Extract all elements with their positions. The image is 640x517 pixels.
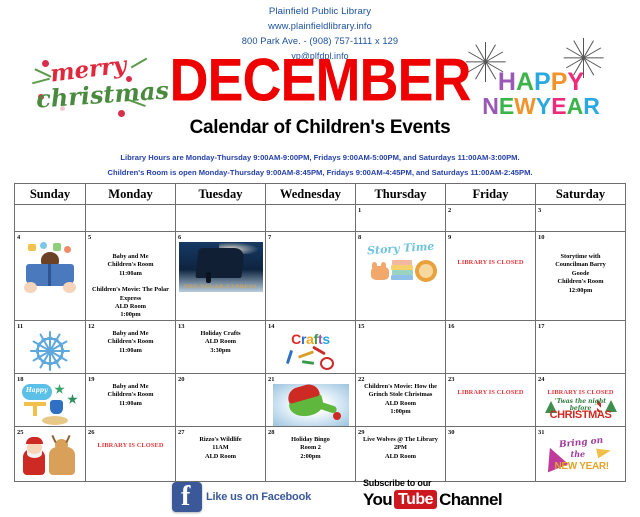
event-block: Baby and MeChildren's Room11:00am <box>86 330 175 355</box>
youtube-tube-icon: Tube <box>394 490 437 509</box>
event-line: Baby and Me <box>89 383 172 391</box>
hours-block: Library Hours are Monday-Thursday 9:00AM… <box>0 150 640 180</box>
calendar-day-cell-31[interactable]: 31Bring ontheNEW YEAR! <box>536 426 626 481</box>
day-number: 31 <box>536 427 625 436</box>
day-number: 21 <box>266 374 355 383</box>
event-block: Holiday CraftsALD Room3:30pm <box>176 330 265 355</box>
event-block-2: Children's Movie: The Polar ExpressALD R… <box>86 286 175 320</box>
day-number: 27 <box>176 427 265 436</box>
day-number: 19 <box>86 374 175 383</box>
day-number: 11 <box>15 321 85 330</box>
calendar-day-cell-2[interactable]: 2 <box>446 205 536 232</box>
page-footer: Like us on Facebook Subscribe to our You… <box>0 484 640 517</box>
weekday-header-row: SundayMondayTuesdayWednesdayThursdayFrid… <box>15 184 626 205</box>
library-website[interactable]: www.plainfieldlibrary.info <box>0 19 640 34</box>
event-line: Holiday Crafts <box>179 330 262 338</box>
day-number: 1 <box>356 205 445 214</box>
hanukkah-icon: Happy <box>20 384 80 426</box>
polar-express-poster-icon: THE POLAR EXPRESS <box>179 242 263 292</box>
crafts-icon: Crafts <box>280 331 342 371</box>
calendar-subtitle: Calendar of Children's Events <box>0 118 640 137</box>
crafts-caption: Crafts <box>280 331 342 347</box>
day-number: 20 <box>176 374 265 383</box>
event-line: ALD Room <box>359 453 442 461</box>
calendar-day-cell-12[interactable]: 12Baby and MeChildren's Room11:00am <box>86 320 176 373</box>
calendar-day-cell-21[interactable]: 21 <box>266 373 356 426</box>
facebook-label: Like us on Facebook <box>206 491 311 503</box>
day-number: 15 <box>356 321 445 330</box>
calendar-day-cell-22[interactable]: 22Children's Movie: How theGrinch Stole … <box>356 373 446 426</box>
calendar-day-cell-20[interactable]: 20 <box>176 373 266 426</box>
calendar-grid: SundayMondayTuesdayWednesdayThursdayFrid… <box>14 183 626 482</box>
event-line: Goode <box>539 270 622 278</box>
calendar-week-row: 123 <box>15 205 626 232</box>
event-line: Children's Movie: How the <box>359 383 442 391</box>
calendar-day-cell-1[interactable]: 1 <box>356 205 446 232</box>
calendar-day-cell-9[interactable]: 9LIBRARY IS CLOSED <box>446 232 536 321</box>
event-line: ALD Room <box>89 303 172 311</box>
event-line: ALD Room <box>179 338 262 346</box>
calendar-day-cell-empty[interactable] <box>176 205 266 232</box>
event-line: Holiday Bingo <box>269 436 352 444</box>
event-line: Baby and Me <box>89 253 172 261</box>
day-number: 30 <box>446 427 535 436</box>
weekday-header-thursday: Thursday <box>356 184 446 205</box>
library-name: Plainfield Public Library <box>0 4 640 19</box>
day-number: 28 <box>266 427 355 436</box>
event-block: Storytime withCouncilman BarryGoodeChild… <box>536 253 625 295</box>
library-closed-notice: LIBRARY IS CLOSED <box>446 259 535 266</box>
event-line: ALD Room <box>359 400 442 408</box>
calendar-day-cell-empty[interactable] <box>86 205 176 232</box>
ny-line2: the <box>571 449 586 459</box>
library-hours-line: Library Hours are Monday-Thursday 9:00AM… <box>0 150 640 165</box>
calendar-day-cell-7[interactable]: 7 <box>266 232 356 321</box>
weekday-header-wednesday: Wednesday <box>266 184 356 205</box>
calendar-day-cell-25[interactable]: 25 <box>15 426 86 481</box>
story-time-icon: Story Time <box>361 242 441 286</box>
weekday-header-saturday: Saturday <box>536 184 626 205</box>
calendar-week-row: 45Baby and MeChildren's Room11:00amChild… <box>15 232 626 321</box>
ny-line3: NEW YEAR! <box>555 461 609 472</box>
day-number: 3 <box>536 205 625 214</box>
weekday-header-monday: Monday <box>86 184 176 205</box>
calendar-day-cell-18[interactable]: 18Happy <box>15 373 86 426</box>
grinch-icon <box>273 384 349 426</box>
calendar-day-cell-empty[interactable] <box>266 205 356 232</box>
calendar-day-cell-10[interactable]: 10Storytime withCouncilman BarryGoodeChi… <box>536 232 626 321</box>
calendar-day-cell-14[interactable]: 14Crafts <box>266 320 356 373</box>
child-reading-icon <box>22 242 78 296</box>
library-closed-notice: LIBRARY IS CLOSED <box>86 442 175 449</box>
calendar-week-row: 1112Baby and MeChildren's Room11:00am13H… <box>15 320 626 373</box>
calendar-page: Plainfield Public Library www.plainfield… <box>0 0 640 517</box>
calendar-day-cell-4[interactable]: 4 <box>15 232 86 321</box>
day-number: 4 <box>15 232 85 241</box>
day-number: 2 <box>446 205 535 214</box>
day-number: 23 <box>446 374 535 383</box>
youtube-you-text: You <box>363 491 392 509</box>
event-line: 11AM <box>179 444 262 452</box>
calendar-week-row: 2526LIBRARY IS CLOSED27Rizzo's Wildlife1… <box>15 426 626 481</box>
calendar-day-cell-empty[interactable] <box>15 205 86 232</box>
calendar-day-cell-5[interactable]: 5Baby and MeChildren's Room11:00amChildr… <box>86 232 176 321</box>
day-number: 12 <box>86 321 175 330</box>
day-number <box>176 205 265 207</box>
event-block: Live Wolves @ The Library2PMALD Room <box>356 436 445 461</box>
event-line: 2PM <box>359 444 442 452</box>
calendar-day-cell-8[interactable]: 8Story Time <box>356 232 446 321</box>
childrens-room-hours-line: Children's Room is open Monday-Thursday … <box>0 165 640 180</box>
event-line: Children's Room <box>539 278 622 286</box>
day-number: 7 <box>266 232 355 241</box>
day-number <box>86 205 175 207</box>
day-number: 5 <box>86 232 175 241</box>
event-line: Children's Room <box>89 391 172 399</box>
day-number: 10 <box>536 232 625 241</box>
bring-on-new-year-icon: Bring ontheNEW YEAR! <box>541 437 621 479</box>
facebook-link[interactable]: Like us on Facebook <box>172 482 311 512</box>
event-block: Baby and MeChildren's Room11:00am <box>86 383 175 408</box>
day-number: 24 <box>536 374 625 383</box>
event-line: Live Wolves @ The Library <box>359 436 442 444</box>
calendar-day-cell-16[interactable]: 16 <box>446 320 536 373</box>
youtube-channel-text: Channel <box>439 491 502 509</box>
event-block: Holiday BingoRoom 22:00pm <box>266 436 355 461</box>
event-line: 11:00am <box>89 347 172 355</box>
facebook-icon <box>172 482 202 512</box>
calendar-day-cell-19[interactable]: 19Baby and MeChildren's Room11:00am <box>86 373 176 426</box>
event-line: 11:00am <box>89 400 172 408</box>
calendar-day-cell-28[interactable]: 28Holiday BingoRoom 22:00pm <box>266 426 356 481</box>
event-line: Baby and Me <box>89 330 172 338</box>
event-line: ALD Room <box>179 453 262 461</box>
event-line: 1:00pm <box>359 408 442 416</box>
day-number: 18 <box>15 374 85 383</box>
event-line: 12:00pm <box>539 287 622 295</box>
day-number: 9 <box>446 232 535 241</box>
youtube-subscribe-label: Subscribe to our <box>363 478 502 489</box>
event-line: Children's Movie: The Polar Express <box>89 286 172 303</box>
youtube-link[interactable]: Subscribe to our You Tube Channel <box>363 478 502 509</box>
calendar-day-cell-27[interactable]: 27Rizzo's Wildlife11AMALD Room <box>176 426 266 481</box>
event-line: Children's Room <box>89 261 172 269</box>
event-line: Councilman Barry <box>539 261 622 269</box>
event-spacer <box>86 278 175 286</box>
calendar-day-cell-15[interactable]: 15 <box>356 320 446 373</box>
event-line: Storytime with <box>539 253 622 261</box>
calendar-day-cell-24[interactable]: 24LIBRARY IS CLOSED'Twas the night befor… <box>536 373 626 426</box>
polar-express-caption: THE POLAR EXPRESS <box>179 284 263 290</box>
day-number: 16 <box>446 321 535 330</box>
calendar-day-cell-13[interactable]: 13Holiday CraftsALD Room3:30pm <box>176 320 266 373</box>
day-number: 17 <box>536 321 625 330</box>
event-line: 1:00pm <box>89 311 172 319</box>
day-number: 25 <box>15 427 85 436</box>
month-title: DECEMBER <box>0 50 640 110</box>
day-number: 13 <box>176 321 265 330</box>
calendar-day-cell-30[interactable]: 30 <box>446 426 536 481</box>
story-time-caption: Story Time <box>366 240 434 258</box>
twas-christmas-icon: 'Twas the night beforeCHRISTMAS <box>543 397 619 425</box>
snowflake-icon <box>30 331 70 371</box>
event-line: 2:00pm <box>269 453 352 461</box>
weekday-header-tuesday: Tuesday <box>176 184 266 205</box>
day-number <box>266 205 355 207</box>
day-number: 26 <box>86 427 175 436</box>
day-number <box>15 205 85 207</box>
weekday-header-friday: Friday <box>446 184 536 205</box>
day-number: 22 <box>356 374 445 383</box>
santa-reindeer-icon <box>19 437 81 481</box>
calendar-day-cell-3[interactable]: 3 <box>536 205 626 232</box>
day-number: 29 <box>356 427 445 436</box>
twas-line2: CHRISTMAS <box>545 409 617 421</box>
event-line: Rizzo's Wildlife <box>179 436 262 444</box>
day-number: 14 <box>266 321 355 330</box>
weekday-header-sunday: Sunday <box>15 184 86 205</box>
library-closed-notice: LIBRARY IS CLOSED <box>446 389 535 396</box>
event-block: Rizzo's Wildlife11AMALD Room <box>176 436 265 461</box>
calendar-day-cell-11[interactable]: 11 <box>15 320 86 373</box>
calendar-day-cell-29[interactable]: 29Live Wolves @ The Library2PMALD Room <box>356 426 446 481</box>
calendar-day-cell-6[interactable]: 6THE POLAR EXPRESS <box>176 232 266 321</box>
event-block: Baby and MeChildren's Room11:00am <box>86 253 175 278</box>
day-number: 6 <box>176 232 265 241</box>
library-closed-notice: LIBRARY IS CLOSED <box>536 389 625 396</box>
event-line: Children's Room <box>89 338 172 346</box>
calendar-day-cell-17[interactable]: 17 <box>536 320 626 373</box>
calendar-day-cell-26[interactable]: 26LIBRARY IS CLOSED <box>86 426 176 481</box>
event-line: 11:00am <box>89 270 172 278</box>
youtube-logo: You Tube Channel <box>363 490 502 509</box>
calendar-day-cell-23[interactable]: 23LIBRARY IS CLOSED <box>446 373 536 426</box>
event-block: Children's Movie: How theGrinch Stole Ch… <box>356 383 445 417</box>
calendar-week-row: 18Happy19Baby and MeChildren's Room11:00… <box>15 373 626 426</box>
page-header: Plainfield Public Library www.plainfield… <box>0 0 640 180</box>
event-line: 3:30pm <box>179 347 262 355</box>
event-line: Grinch Stole Christmas <box>359 391 442 399</box>
event-line: Room 2 <box>269 444 352 452</box>
